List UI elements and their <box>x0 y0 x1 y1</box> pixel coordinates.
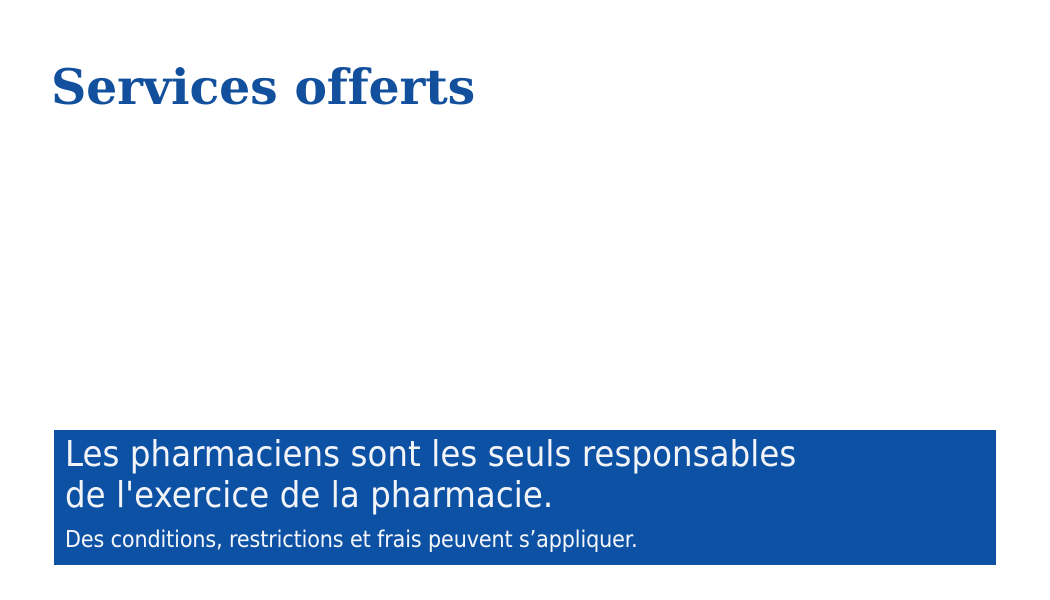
slide-canvas: Services offerts Les pharmaciens sont le… <box>0 0 1050 600</box>
slide-content-area <box>54 130 996 420</box>
callout-heading-line-2: de l'exercice de la pharmacie. <box>65 475 985 516</box>
callout-banner: Les pharmaciens sont les seuls responsab… <box>54 430 996 565</box>
callout-heading: Les pharmaciens sont les seuls responsab… <box>65 434 985 516</box>
callout-subtext: Des conditions, restrictions et frais pe… <box>65 527 985 554</box>
callout-heading-line-1: Les pharmaciens sont les seuls responsab… <box>65 434 985 475</box>
page-title: Services offerts <box>51 58 475 116</box>
